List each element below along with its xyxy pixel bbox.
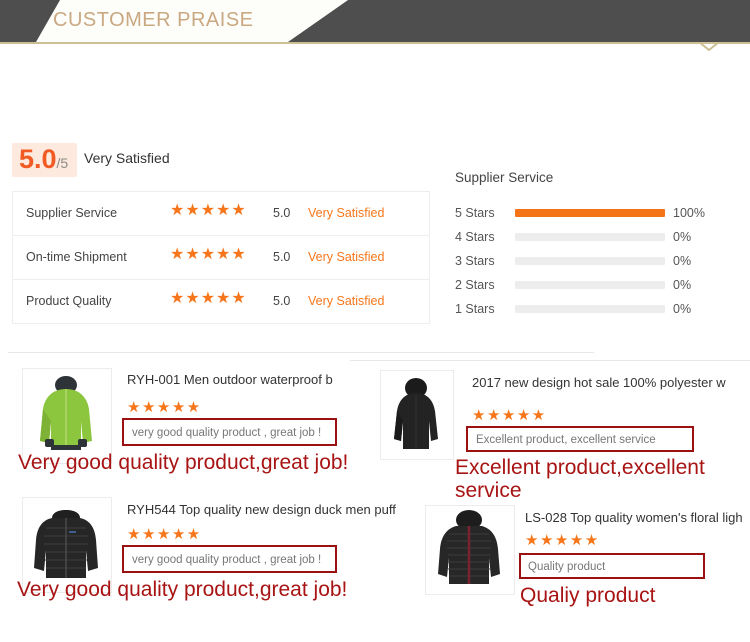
rating-score-value: 5.0 xyxy=(273,250,290,264)
bar-percent-label: 0% xyxy=(673,230,691,244)
bar-row: 4 Stars 0% xyxy=(455,228,745,252)
bar-label: 4 Stars xyxy=(455,230,495,244)
rating-table: Supplier Service ★★★★★ 5.0 Very Satisfie… xyxy=(12,191,430,324)
overall-score-denominator: /5 xyxy=(57,155,69,171)
bar-label: 3 Stars xyxy=(455,254,495,268)
bar-label: 2 Stars xyxy=(455,278,495,292)
bar-track xyxy=(515,257,665,265)
black-hooded-jacket-thumbnail xyxy=(380,370,454,460)
rating-category-label: On-time Shipment xyxy=(26,250,127,264)
star-rating-icon: ★★★★★ xyxy=(127,527,202,542)
bar-percent-label: 0% xyxy=(673,302,691,316)
review-comment-text: very good quality product , great job ! xyxy=(132,427,321,439)
star-rating-icon: ★★★★★ xyxy=(170,291,247,307)
header-banner: CUSTOMER PRAISE xyxy=(0,0,750,42)
bar-track xyxy=(515,209,665,217)
star-rating-icon: ★★★★★ xyxy=(170,203,247,219)
review-card: RYH544 Top quality new design duck men p… xyxy=(22,497,412,607)
bar-percent-label: 0% xyxy=(673,278,691,292)
table-row: Supplier Service ★★★★★ 5.0 Very Satisfie… xyxy=(13,192,429,236)
table-row: Product Quality ★★★★★ 5.0 Very Satisfied xyxy=(13,280,429,324)
review-card: RYH-001 Men outdoor waterproof b ★★★★★ v… xyxy=(22,368,372,478)
review-card: 2017 new design hot sale 100% polyester … xyxy=(380,370,750,490)
star-rating-icon: ★★★★★ xyxy=(472,408,547,423)
rating-score-value: 5.0 xyxy=(273,294,290,308)
bar-fill xyxy=(515,209,665,217)
rating-category-label: Supplier Service xyxy=(26,206,117,220)
banner-shape-right xyxy=(288,0,750,42)
banner-divider xyxy=(0,42,750,44)
supplier-service-title: Supplier Service xyxy=(455,170,745,185)
supplier-service-chart: Supplier Service 5 Stars 100% 4 Stars 0%… xyxy=(455,170,745,324)
bar-track xyxy=(515,281,665,289)
overall-score-value: 5.0 xyxy=(19,144,57,174)
rating-sentiment-text: Very Satisfied xyxy=(308,206,384,220)
bar-percent-label: 100% xyxy=(673,206,705,220)
overall-score-label: Very Satisfied xyxy=(84,150,170,166)
bar-row: 3 Stars 0% xyxy=(455,252,745,276)
review-product-title[interactable]: RYH544 Top quality new design duck men p… xyxy=(127,502,396,517)
bar-label: 5 Stars xyxy=(455,206,495,220)
review-comment-text: very good quality product , great job ! xyxy=(132,554,321,566)
rating-summary: 5.0/5 Very Satisfied Supplier Service ★★… xyxy=(12,143,430,191)
table-row: On-time Shipment ★★★★★ 5.0 Very Satisfie… xyxy=(13,236,429,280)
bar-track xyxy=(515,305,665,313)
green-jacket-thumbnail xyxy=(22,368,112,464)
section-divider xyxy=(350,360,750,361)
overall-score-row: 5.0/5 Very Satisfied xyxy=(12,143,430,191)
bar-percent-label: 0% xyxy=(673,254,691,268)
banner-shape-left xyxy=(0,0,60,42)
bar-track xyxy=(515,233,665,241)
section-divider xyxy=(8,352,594,353)
rating-sentiment-text: Very Satisfied xyxy=(308,250,384,264)
rating-sentiment-text: Very Satisfied xyxy=(308,294,384,308)
review-comment-text: Quality product xyxy=(528,561,605,573)
chevron-down-icon xyxy=(699,42,719,51)
star-rating-icon: ★★★★★ xyxy=(170,247,247,263)
review-annotation: Very good quality product,great job! xyxy=(17,578,347,601)
rating-category-label: Product Quality xyxy=(26,294,111,308)
review-card: LS-028 Top quality women's floral ligh ★… xyxy=(425,505,750,615)
review-comment-text: Excellent product, excellent service xyxy=(476,434,656,446)
bar-row: 5 Stars 100% xyxy=(455,204,745,228)
black-womens-puffer-jacket-thumbnail xyxy=(425,505,515,595)
page-title: CUSTOMER PRAISE xyxy=(53,9,254,32)
review-annotation: Excellent product,excellent service xyxy=(455,456,745,502)
review-annotation: Very good quality product,great job! xyxy=(18,451,348,474)
review-annotation: Qualiy product xyxy=(520,584,655,607)
bar-row: 2 Stars 0% xyxy=(455,276,745,300)
review-product-title[interactable]: 2017 new design hot sale 100% polyester … xyxy=(472,375,726,390)
bar-row: 1 Stars 0% xyxy=(455,300,745,324)
overall-score-badge: 5.0/5 xyxy=(12,143,77,177)
bar-label: 1 Stars xyxy=(455,302,495,316)
star-rating-icon: ★★★★★ xyxy=(525,533,600,548)
review-product-title[interactable]: RYH-001 Men outdoor waterproof b xyxy=(127,372,333,387)
review-product-title[interactable]: LS-028 Top quality women's floral ligh xyxy=(525,510,743,525)
rating-score-value: 5.0 xyxy=(273,206,290,220)
star-rating-icon: ★★★★★ xyxy=(127,400,202,415)
